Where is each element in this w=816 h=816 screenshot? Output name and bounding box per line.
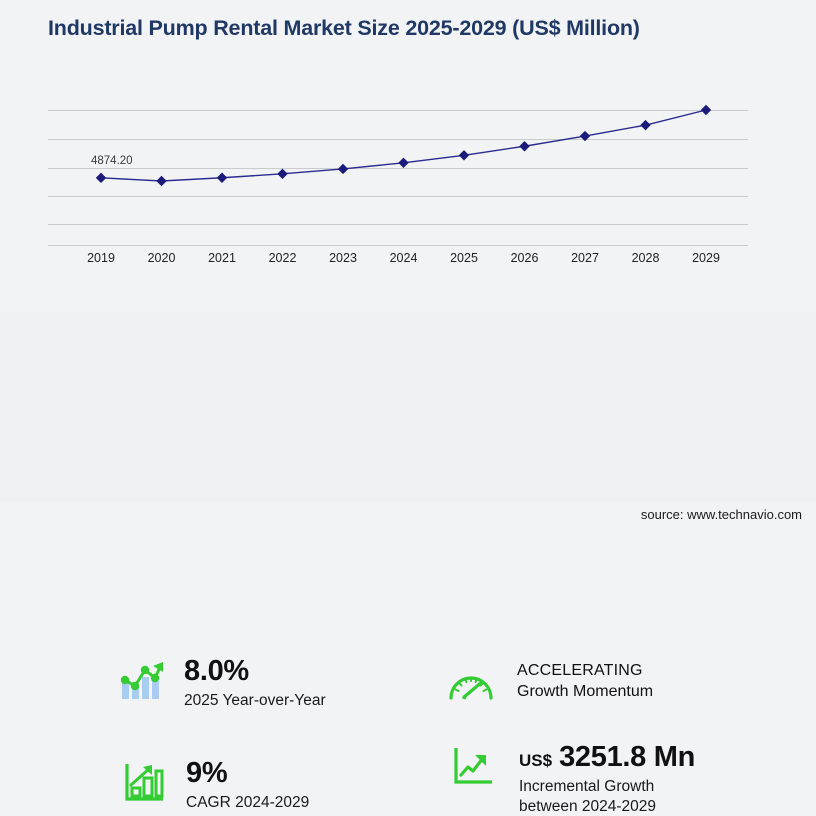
- stats-panel: 8.0% 2025 Year-over-Year: [0, 312, 816, 502]
- x-axis-tick-2029: 2029: [692, 251, 720, 265]
- cagr-caption: CAGR 2024-2029: [186, 793, 309, 813]
- incremental-caption-line1: Incremental Growth: [519, 777, 695, 797]
- data-point-marker: [459, 150, 469, 160]
- plot-area: 4874.20: [48, 95, 748, 245]
- data-point-marker: [156, 176, 166, 186]
- x-axis-tick-2020: 2020: [148, 251, 176, 265]
- bar-line-growth-icon: [118, 656, 166, 704]
- page-title: Industrial Pump Rental Market Size 2025-…: [48, 14, 708, 42]
- x-axis-line: [48, 245, 748, 246]
- data-point-marker: [398, 158, 408, 168]
- yoy-caption: 2025 Year-over-Year: [184, 691, 326, 711]
- incremental-currency-prefix: US$: [519, 751, 552, 770]
- source-note: source: www.technavio.com: [641, 507, 802, 522]
- data-point-marker: [217, 173, 227, 183]
- speedometer-gauge-icon: [447, 660, 495, 708]
- data-point-label-2019: 4874.20: [91, 155, 133, 167]
- x-axis-tick-2026: 2026: [511, 251, 539, 265]
- data-point-marker: [277, 169, 287, 179]
- stat-growth-momentum: ACCELERATING Growth Momentum: [447, 660, 653, 708]
- incremental-value: US$3251.8 Mn: [519, 742, 695, 773]
- x-axis-tick-labels: 2019202020212022202320242025202620272028…: [48, 251, 748, 277]
- cagr-value: 9%: [186, 758, 309, 789]
- yoy-value: 8.0%: [184, 656, 326, 687]
- data-point-marker: [580, 131, 590, 141]
- line-chart-arrow-icon: [449, 742, 497, 790]
- momentum-headline: ACCELERATING: [517, 660, 653, 681]
- data-point-marker: [519, 141, 529, 151]
- stat-cagr: 9% CAGR 2024-2029: [120, 758, 309, 813]
- stat-year-over-year: 8.0% 2025 Year-over-Year: [118, 656, 326, 711]
- incremental-amount: 3251.8 Mn: [559, 741, 695, 773]
- stat-incremental-growth: US$3251.8 Mn Incremental Growth between …: [449, 742, 695, 816]
- series-polyline: [101, 110, 706, 181]
- x-axis-tick-2023: 2023: [329, 251, 357, 265]
- x-axis-tick-2022: 2022: [269, 251, 297, 265]
- x-axis-tick-2027: 2027: [571, 251, 599, 265]
- line-chart: 4874.20 20192020202120222023202420252026…: [0, 95, 816, 285]
- x-axis-tick-2024: 2024: [390, 251, 418, 265]
- incremental-caption-line2: between 2024-2029: [519, 797, 695, 816]
- x-axis-tick-2028: 2028: [632, 251, 660, 265]
- data-point-marker: [701, 105, 711, 115]
- x-axis-tick-2019: 2019: [87, 251, 115, 265]
- data-point-marker: [96, 173, 106, 183]
- bar-chart-arrow-icon: [120, 758, 168, 806]
- momentum-caption: Growth Momentum: [517, 681, 653, 702]
- data-point-marker: [338, 164, 348, 174]
- series-line: [48, 95, 748, 245]
- data-point-marker: [640, 120, 650, 130]
- x-axis-tick-2025: 2025: [450, 251, 478, 265]
- x-axis-tick-2021: 2021: [208, 251, 236, 265]
